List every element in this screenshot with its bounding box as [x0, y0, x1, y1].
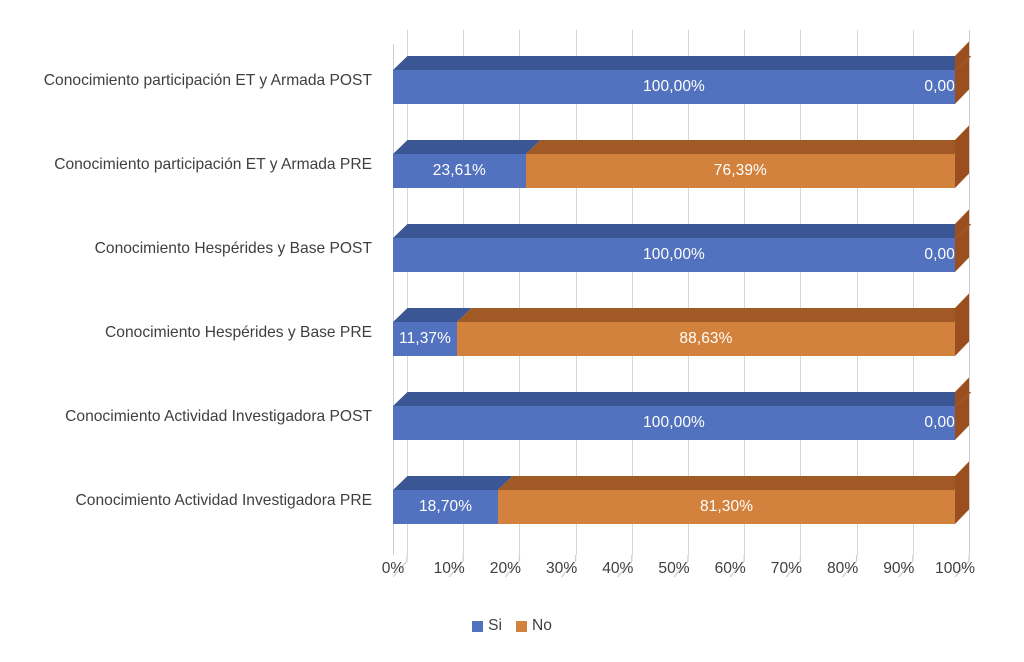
bar-segment-no[interactable]: [498, 476, 955, 524]
legend: SiNo: [0, 617, 1024, 635]
legend-swatch-icon: [516, 621, 527, 632]
bar-segment-si-front-face: [393, 490, 498, 524]
bar-segment-no-top-face: [526, 140, 970, 154]
bar-row: 100,00%0,00: [393, 56, 978, 104]
chart-container: Conocimiento participación ET y Armada P…: [0, 0, 1024, 662]
legend-label: Si: [488, 617, 502, 635]
category-label: Conocimiento Hespérides y Base PRE: [0, 324, 382, 342]
bar-segment-no-zero: [955, 56, 957, 104]
x-axis-tick-label: 60%: [715, 560, 746, 578]
bar-row: 100,00%0,00: [393, 224, 978, 272]
bar-segment-si[interactable]: [393, 56, 955, 104]
bar-row: 11,37%88,63%: [393, 308, 978, 356]
bar-right-face: [955, 42, 969, 104]
bar-segment-si-top-face: [393, 392, 969, 406]
bar-segment-no-top-face: [498, 476, 969, 490]
legend-label: No: [532, 617, 552, 635]
legend-swatch-icon: [472, 621, 483, 632]
category-label: Conocimiento Hespérides y Base POST: [0, 240, 382, 258]
bar-segment-no-top-face: [457, 308, 970, 322]
bar-segment-no-zero: [955, 392, 957, 440]
bar-segment-no-front-face: [498, 490, 955, 524]
plot-area: 100,00%0,0023,61%76,39%100,00%0,0011,37%…: [393, 30, 978, 555]
bar-segment-si-top-face: [393, 140, 540, 154]
x-axis-tick-label: 80%: [827, 560, 858, 578]
bar-right-face: [955, 210, 969, 272]
bar-segment-si-top-face: [393, 56, 969, 70]
bar-segment-no[interactable]: [457, 308, 955, 356]
bar-segment-si-front-face: [393, 406, 955, 440]
bar-right-face: [955, 462, 969, 524]
bar-segment-si-top-face: [393, 476, 513, 490]
bar-segment-si[interactable]: [393, 224, 955, 272]
bar-segment-si-front-face: [393, 154, 526, 188]
x-axis-tick-label: 50%: [658, 560, 689, 578]
x-axis-tick-label: 90%: [883, 560, 914, 578]
bar-right-face: [955, 294, 969, 356]
bar-row: 18,70%81,30%: [393, 476, 978, 524]
y-axis-category-labels: Conocimiento participación ET y Armada P…: [0, 0, 382, 662]
category-label: Conocimiento participación ET y Armada P…: [0, 156, 382, 174]
bar-segment-si-front-face: [393, 238, 955, 272]
x-axis-tick-label: 70%: [771, 560, 802, 578]
x-axis-tick-labels: 0%10%20%30%40%50%60%70%80%90%100%: [393, 560, 978, 586]
x-axis-tick-label: 20%: [490, 560, 521, 578]
bar-segment-si[interactable]: [393, 140, 526, 188]
x-axis-tick-label: 0%: [382, 560, 405, 578]
bar-segment-si-top-face: [393, 224, 969, 238]
bar-segment-no-front-face: [526, 154, 955, 188]
bar-segment-si[interactable]: [393, 308, 457, 356]
bar-row: 23,61%76,39%: [393, 140, 978, 188]
bar-row: 100,00%0,00: [393, 392, 978, 440]
bar-segment-no-front-face: [457, 322, 955, 356]
category-label: Conocimiento participación ET y Armada P…: [0, 72, 382, 90]
category-label: Conocimiento Actividad Investigadora PRE: [0, 492, 382, 510]
bar-segment-si[interactable]: [393, 392, 955, 440]
legend-item[interactable]: Si: [472, 617, 502, 635]
bar-right-face: [955, 378, 969, 440]
x-axis-tick-label: 30%: [546, 560, 577, 578]
bar-segment-no[interactable]: [526, 140, 955, 188]
bar-segment-si[interactable]: [393, 476, 498, 524]
bar-segment-no-zero: [955, 224, 957, 272]
x-axis-tick-label: 40%: [602, 560, 633, 578]
bar-right-face: [955, 126, 969, 188]
x-axis-tick-label: 10%: [434, 560, 465, 578]
x-axis-tick-label: 100%: [935, 560, 975, 578]
legend-item[interactable]: No: [516, 617, 552, 635]
category-label: Conocimiento Actividad Investigadora POS…: [0, 408, 382, 426]
bar-segment-si-front-face: [393, 322, 457, 356]
bar-segment-si-front-face: [393, 70, 955, 104]
